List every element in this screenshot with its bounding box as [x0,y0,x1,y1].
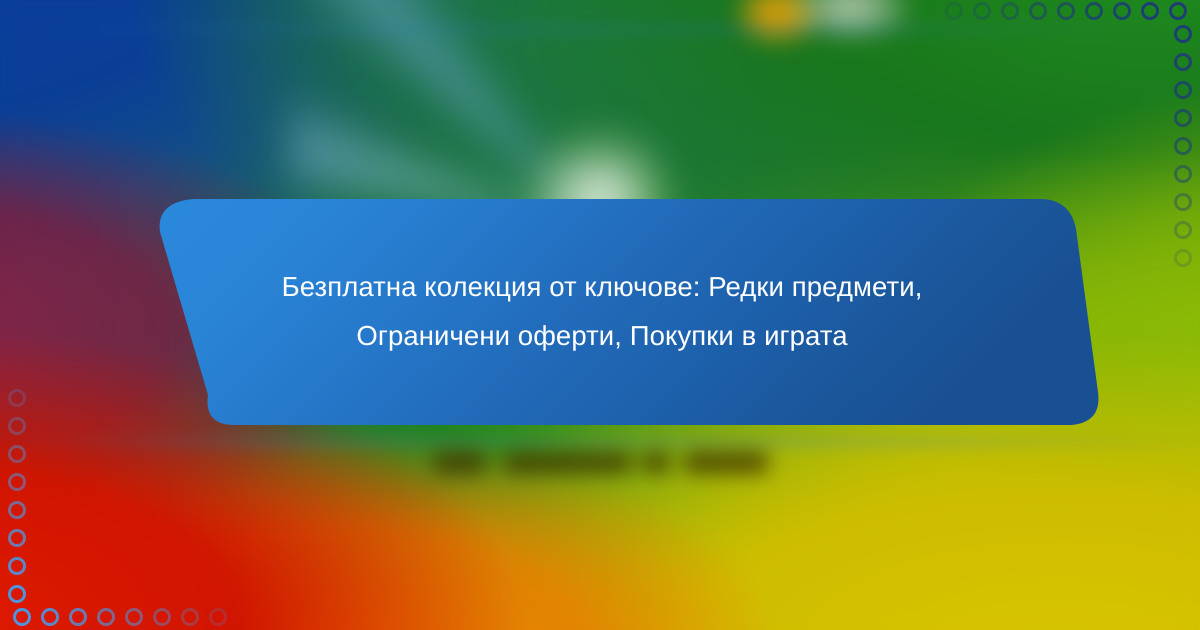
page-title: Безплатна колекция от ключове: Редки пре… [222,263,982,361]
headline-card-content: Безплатна колекция от ключове: Редки пре… [104,196,1100,428]
background-seam-top [0,28,1200,31]
background-blurred-caption [432,446,770,480]
background-seam-middle [0,440,1200,444]
background-smudge-grey [790,0,910,38]
headline-card: Безплатна колекция от ключове: Редки пре… [104,196,1100,428]
screenshot-root: Безплатна колекция от ключове: Редки пре… [0,0,1200,630]
